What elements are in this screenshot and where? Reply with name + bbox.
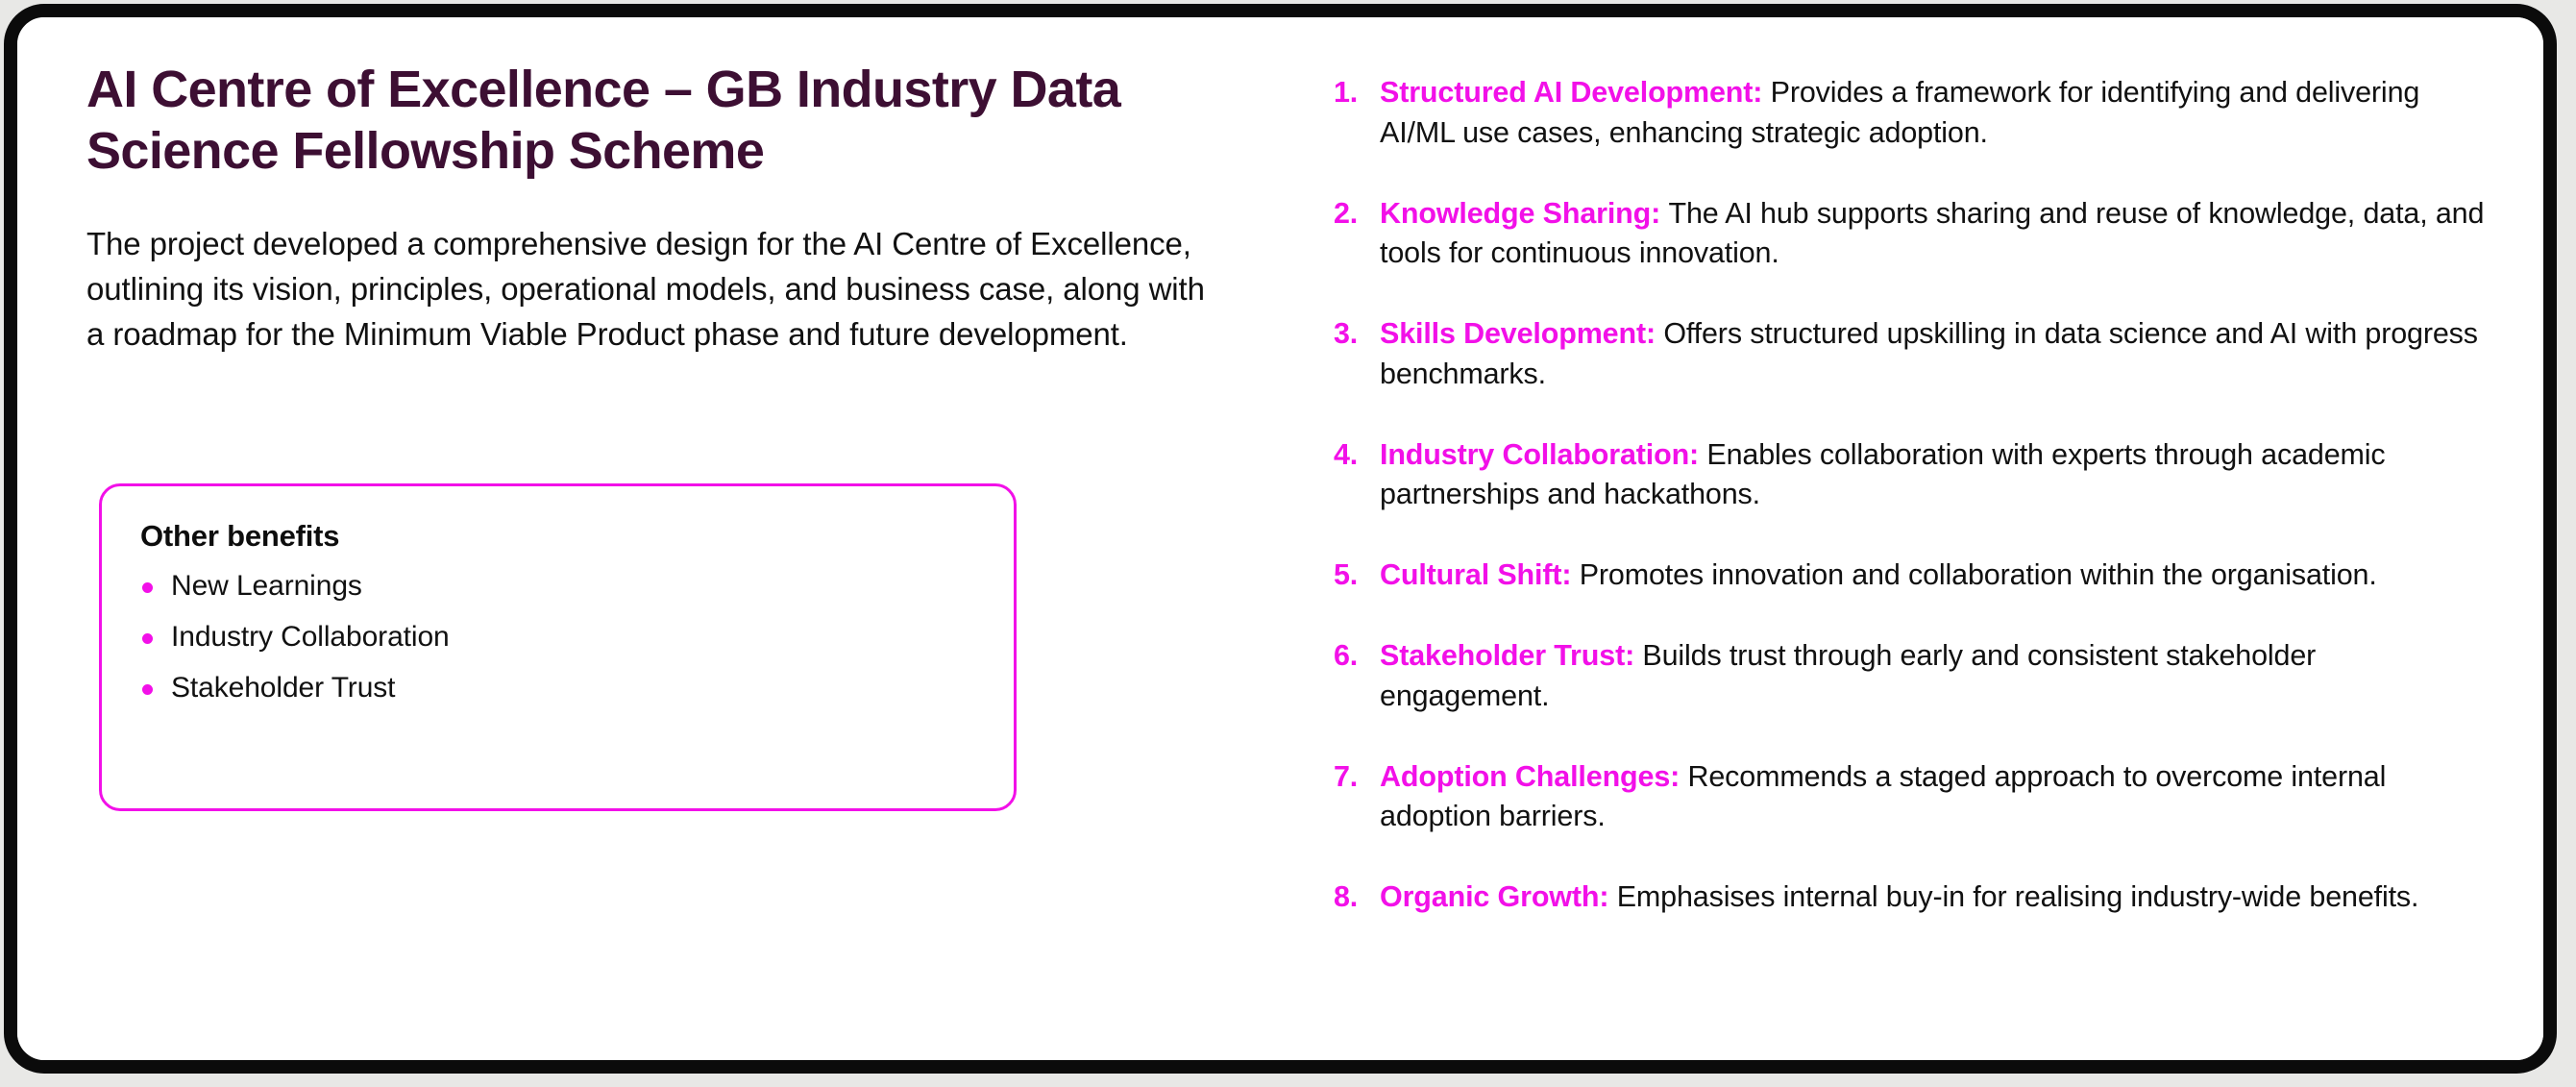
point-number: 7. (1334, 757, 1358, 798)
point-number: 2. (1334, 194, 1358, 235)
list-item: Industry Collaboration (140, 622, 975, 653)
point-term: Stakeholder Trust: (1380, 639, 1642, 672)
point-term: Cultural Shift: (1380, 558, 1580, 591)
point-term: Knowledge Sharing: (1380, 197, 1668, 230)
list-item: 7. Adoption Challenges: Recommends a sta… (1334, 757, 2487, 838)
list-item: 6. Stakeholder Trust: Builds trust throu… (1334, 636, 2487, 717)
point-term: Adoption Challenges: (1380, 760, 1687, 793)
other-benefits-list: New Learnings Industry Collaboration Sta… (140, 571, 975, 703)
other-benefits-item-label: Industry Collaboration (171, 621, 450, 653)
point-term: Organic Growth: (1380, 880, 1617, 913)
list-item: 8. Organic Growth: Emphasises internal b… (1334, 877, 2487, 918)
slide-frame: AI Centre of Excellence – GB Industry Da… (4, 4, 2557, 1074)
list-item: Stakeholder Trust (140, 673, 975, 704)
point-description: Emphasises internal buy-in for realising… (1617, 880, 2419, 913)
bullet-dot-icon (142, 582, 153, 593)
list-item: 3. Skills Development: Offers structured… (1334, 314, 2487, 395)
point-term: Skills Development: (1380, 317, 1663, 350)
point-description: Promotes innovation and collaboration wi… (1580, 558, 2377, 591)
other-benefits-item-label: Stakeholder Trust (171, 672, 395, 704)
list-item: New Learnings (140, 571, 975, 602)
point-term: Structured AI Development: (1380, 76, 1771, 109)
page-title: AI Centre of Excellence – GB Industry Da… (86, 60, 1278, 182)
bullet-dot-icon (142, 684, 153, 695)
summary-paragraph: The project developed a comprehensive de… (86, 222, 1220, 358)
slide-content: AI Centre of Excellence – GB Industry Da… (17, 17, 2543, 1060)
left-column: AI Centre of Excellence – GB Industry Da… (86, 60, 1278, 358)
bullet-dot-icon (142, 633, 153, 644)
list-item: 5. Cultural Shift: Promotes innovation a… (1334, 556, 2487, 596)
point-number: 1. (1334, 73, 1358, 113)
list-item: 4. Industry Collaboration: Enables colla… (1334, 435, 2487, 516)
point-number: 3. (1334, 314, 1358, 355)
point-term: Industry Collaboration: (1380, 438, 1706, 471)
right-column: 1. Structured AI Development: Provides a… (1334, 73, 2487, 918)
other-benefits-heading: Other benefits (140, 519, 975, 554)
point-number: 6. (1334, 636, 1358, 677)
point-number: 8. (1334, 877, 1358, 918)
other-benefits-card: Other benefits New Learnings Industry Co… (99, 483, 1017, 811)
list-item: 2. Knowledge Sharing: The AI hub support… (1334, 194, 2487, 275)
key-points-list: 1. Structured AI Development: Provides a… (1334, 73, 2487, 918)
list-item: 1. Structured AI Development: Provides a… (1334, 73, 2487, 154)
other-benefits-item-label: New Learnings (171, 570, 362, 602)
point-number: 4. (1334, 435, 1358, 476)
point-number: 5. (1334, 556, 1358, 596)
